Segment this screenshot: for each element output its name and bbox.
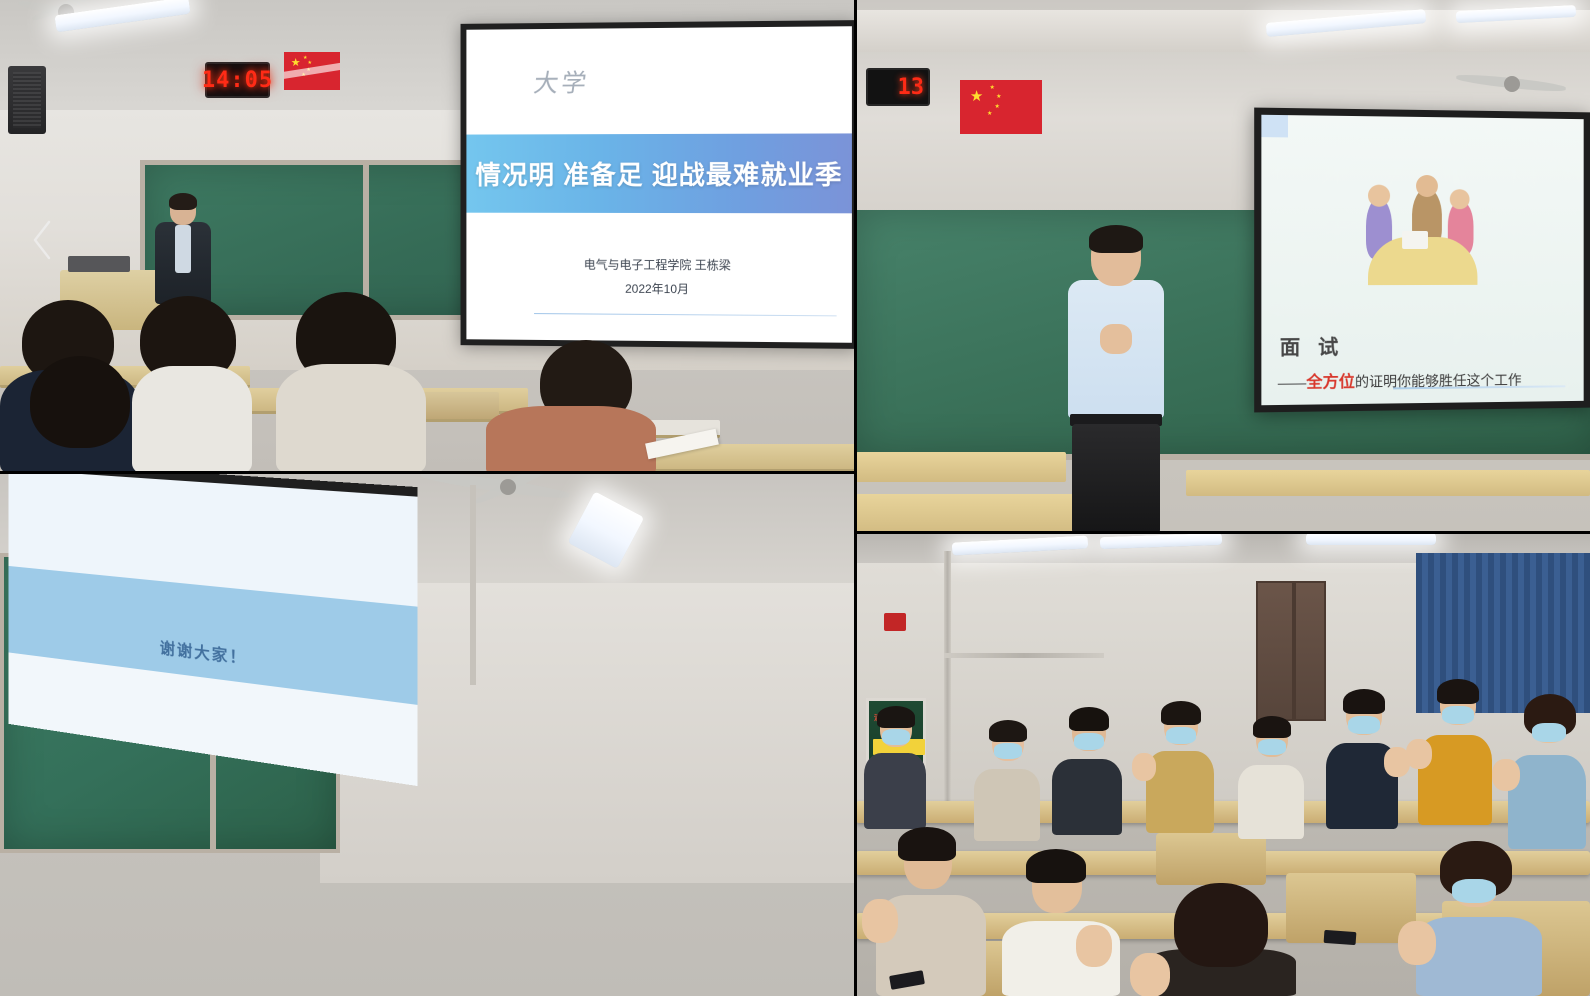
pipe <box>470 485 476 685</box>
audience-member <box>1002 855 1120 996</box>
ceiling-fan-icon <box>500 479 516 495</box>
photo-panel-interview-topic[interactable]: 13 ★ ★ ★ ★ ★ <box>856 0 1590 533</box>
slide-heading: 面 试 <box>1280 331 1345 361</box>
led-clock-icon: 14:05 <box>205 62 270 98</box>
student-figure <box>486 406 656 473</box>
audience-member <box>1416 849 1542 996</box>
photo-panel-post-talk-questions[interactable]: 谢谢大家！ 安全出口 <box>0 473 856 996</box>
china-flag-icon: ★ ★ ★ ★ ★ <box>960 80 1042 134</box>
clock-time: 14:05 <box>202 68 273 93</box>
audience-member <box>1238 719 1304 839</box>
fire-equipment-icon <box>884 613 906 631</box>
speaker-figure <box>1056 228 1176 528</box>
panel-divider <box>0 471 856 474</box>
led-clock-icon: 13 <box>866 68 930 106</box>
slide-subtitle-highlight: 全方位 <box>1306 374 1355 392</box>
pipe <box>944 551 951 801</box>
desk <box>856 452 1066 482</box>
china-flag-icon: ★ ★ ★ ★ ★ <box>284 52 340 90</box>
thanks-text: 谢谢大家！ <box>160 634 248 669</box>
audience-member <box>864 709 926 829</box>
university-logo-text: 大学 <box>532 64 592 100</box>
audience-member <box>1418 683 1492 825</box>
slide-presenter: 电气与电子工程学院 王栋梁 <box>584 256 731 274</box>
panel-divider <box>856 531 1590 534</box>
door <box>1256 581 1326 721</box>
student-figure <box>132 366 252 473</box>
slide-title-band: 情况明 准备足 迎战最难就业季 <box>466 134 852 213</box>
presenter-figure <box>152 195 214 303</box>
student-figure <box>276 364 426 473</box>
panel-divider <box>854 0 857 996</box>
clock-time: 13 <box>898 75 925 100</box>
fluorescent-light-icon <box>1306 533 1436 545</box>
wall-speaker-icon <box>8 66 46 134</box>
audience-member <box>1146 705 1214 833</box>
ceiling-fan-icon <box>1504 76 1520 92</box>
title-slide: 大学 情况明 准备足 迎战最难就业季 电气与电子工程学院 王栋梁 2022年10… <box>466 26 852 343</box>
audience-member <box>1508 699 1586 849</box>
audience-member <box>876 833 986 996</box>
lecture-seat <box>1156 833 1266 885</box>
interview-slide: 面 试 ——全方位的证明你能够胜任这个工作 <box>1261 115 1583 405</box>
audience-member <box>974 723 1040 841</box>
photo-collage: 14:05 ★ ★ ★ ★ ★ 大学 情况明 准备足 迎战最难就业季 <box>0 0 1590 996</box>
interview-illustration-icon <box>1274 127 1572 331</box>
pipe <box>944 653 1104 658</box>
photo-panel-audience-applause[interactable]: 消防栓 <box>856 533 1590 996</box>
audience-member <box>1326 693 1398 829</box>
audience-member <box>1146 891 1296 996</box>
projector-screen[interactable]: 大学 情况明 准备足 迎战最难就业季 电气与电子工程学院 王栋梁 2022年10… <box>461 20 856 349</box>
desk <box>1186 470 1590 496</box>
audience-member <box>1052 711 1122 835</box>
carousel-prev-button[interactable] <box>28 218 56 262</box>
slide-date: 2022年10月 <box>625 280 689 297</box>
slide-title: 情况明 准备足 迎战最难就业季 <box>475 155 842 192</box>
photo-panel-lecture-opening[interactable]: 14:05 ★ ★ ★ ★ ★ 大学 情况明 准备足 迎战最难就业季 <box>0 0 856 473</box>
student-figure <box>30 356 130 448</box>
projector-screen[interactable]: 面 试 ——全方位的证明你能够胜任这个工作 <box>1254 108 1590 413</box>
smartphone-icon <box>1324 930 1357 945</box>
